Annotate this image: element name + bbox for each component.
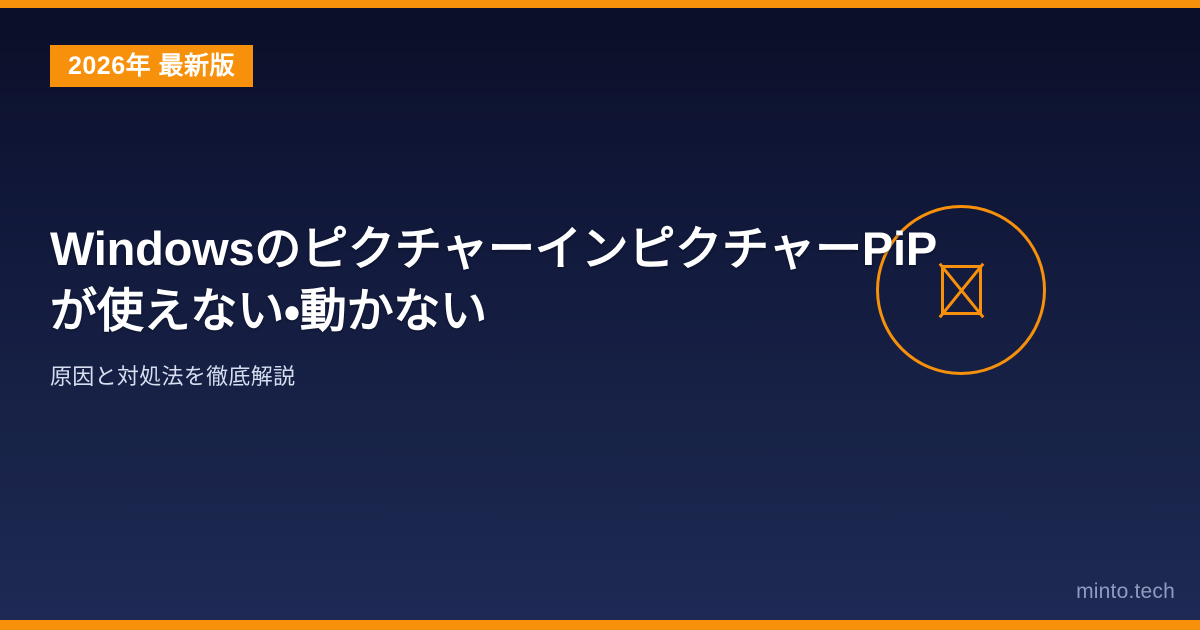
og-image-card: 2026年 最新版 WindowsのピクチャーインピクチャーPiPが使えない・動… [0,0,1200,630]
bottom-accent-bar [0,620,1200,630]
hero-text-block: WindowsのピクチャーインピクチャーPiPが使えない・動かない 原因と対処法… [50,218,950,393]
page-subtitle: 原因と対処法を徹底解説 [50,362,950,393]
year-badge: 2026年 最新版 [50,45,253,87]
top-accent-bar [0,0,1200,8]
year-badge-label: 2026年 最新版 [68,54,235,79]
page-title: WindowsのピクチャーインピクチャーPiPが使えない・動かない [50,218,950,342]
site-watermark: minto.tech [1076,580,1175,604]
